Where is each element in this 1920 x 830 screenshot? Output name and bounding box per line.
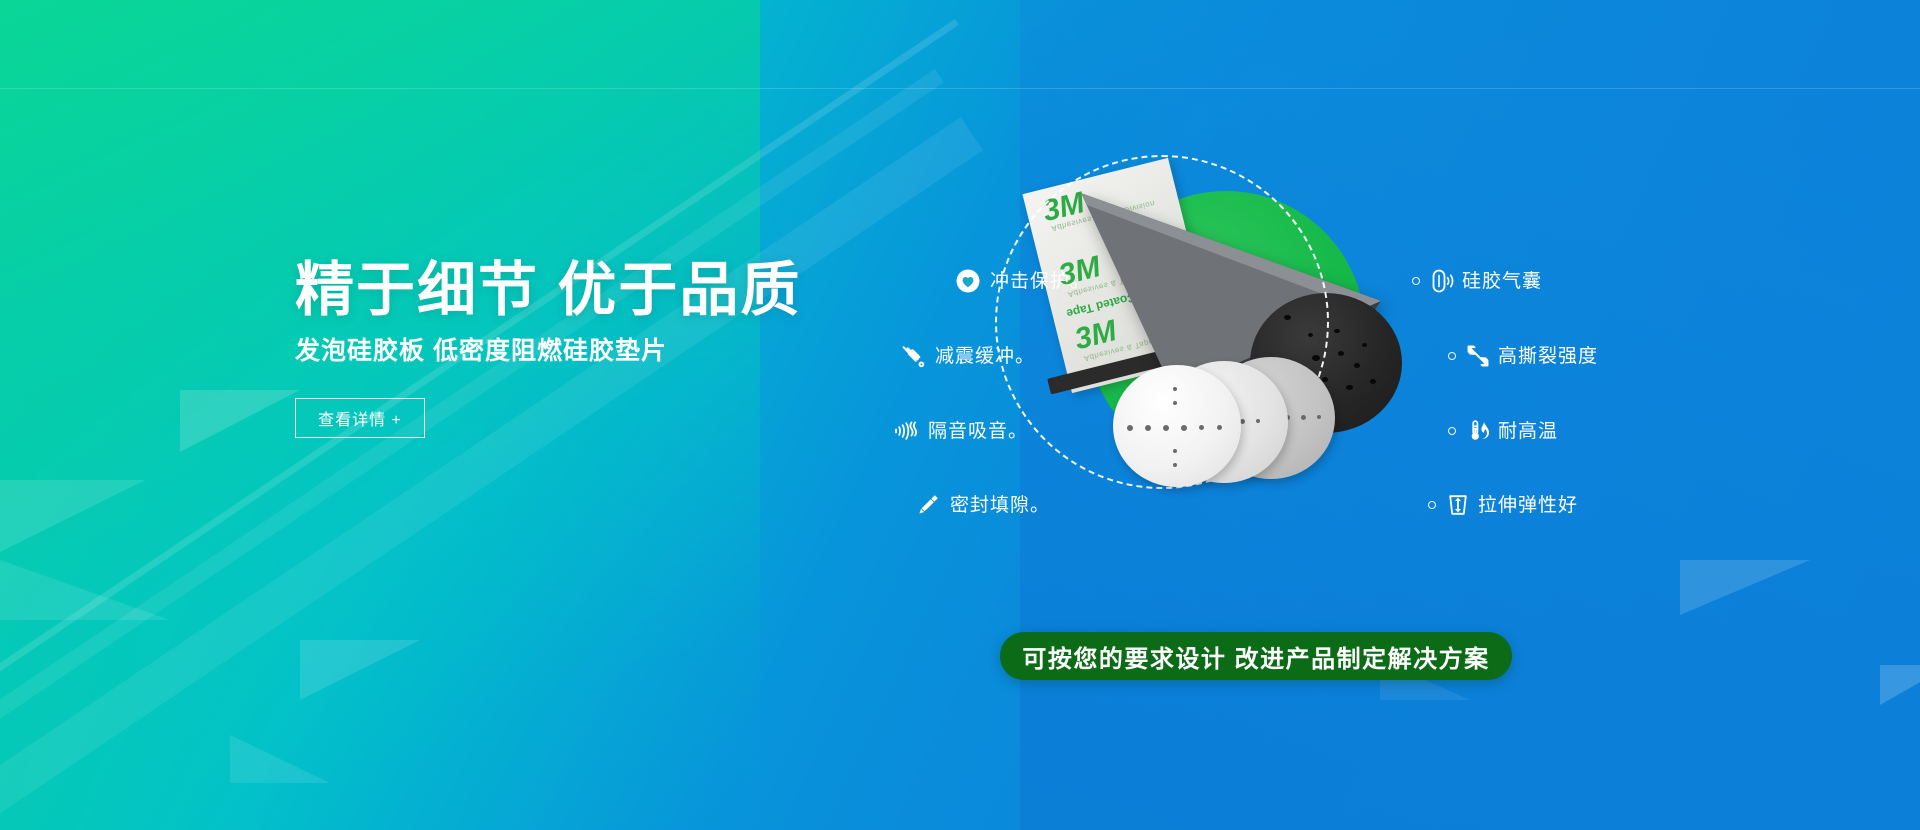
feature-shock-absorption[interactable]: 减震缓冲。 <box>900 343 1035 369</box>
shock-absorber-icon <box>900 343 926 369</box>
connector-dot <box>1448 427 1456 435</box>
shield-heart-icon <box>955 268 981 294</box>
sound-wave-icon <box>893 418 919 444</box>
feature-impact-protection[interactable]: 冲击保护。 <box>955 268 1090 294</box>
feature-heat-resistant[interactable]: 耐高温 <box>1448 418 1558 444</box>
hero-banner: 精于细节 优于品质 发泡硅胶板 低密度阻燃硅胶垫片 查看详情 + 3M Adhe… <box>0 0 1920 830</box>
vertical-stretch-icon <box>1445 492 1471 518</box>
connector-dot <box>1412 277 1420 285</box>
white-perforated-pad <box>1113 365 1241 487</box>
feature-label: 减震缓冲。 <box>935 347 1035 366</box>
silicone-airbag-icon <box>1429 268 1455 294</box>
page-title: 精于细节 优于品质 <box>295 258 915 323</box>
feature-label: 隔音吸音。 <box>928 422 1028 441</box>
connector-dot <box>1428 501 1436 509</box>
thermometer-flame-icon <box>1465 418 1491 444</box>
feature-sound-insulation[interactable]: 隔音吸音。 <box>893 418 1028 444</box>
feature-high-tear-strength[interactable]: 高撕裂强度 <box>1448 343 1598 369</box>
page-subtitle: 发泡硅胶板 低密度阻燃硅胶垫片 <box>295 331 915 367</box>
feature-label: 冲击保护。 <box>990 272 1090 291</box>
expand-arrows-icon <box>1465 343 1491 369</box>
feature-label: 拉伸弹性好 <box>1478 496 1578 515</box>
feature-label: 密封填隙。 <box>950 496 1050 515</box>
solution-ribbon: 可按您的要求设计 改进产品制定解决方案 <box>1000 632 1512 680</box>
product-photo: 3M Adhesives & Tape Division 3M Adhesive… <box>1025 165 1445 495</box>
glue-syringe-icon <box>915 492 941 518</box>
view-details-button[interactable]: 查看详情 + <box>295 398 425 438</box>
feature-gap-sealing[interactable]: 密封填隙。 <box>915 492 1050 518</box>
background-horizontal-rule <box>0 88 1920 89</box>
connector-dot <box>1448 352 1456 360</box>
hero-copy: 精于细节 优于品质 发泡硅胶板 低密度阻燃硅胶垫片 <box>295 258 915 367</box>
feature-tensile-elasticity[interactable]: 拉伸弹性好 <box>1428 492 1578 518</box>
feature-label: 耐高温 <box>1498 422 1558 441</box>
feature-label: 硅胶气囊 <box>1462 272 1542 291</box>
feature-silicone-airbag[interactable]: 硅胶气囊 <box>1412 268 1542 294</box>
feature-label: 高撕裂强度 <box>1498 347 1598 366</box>
